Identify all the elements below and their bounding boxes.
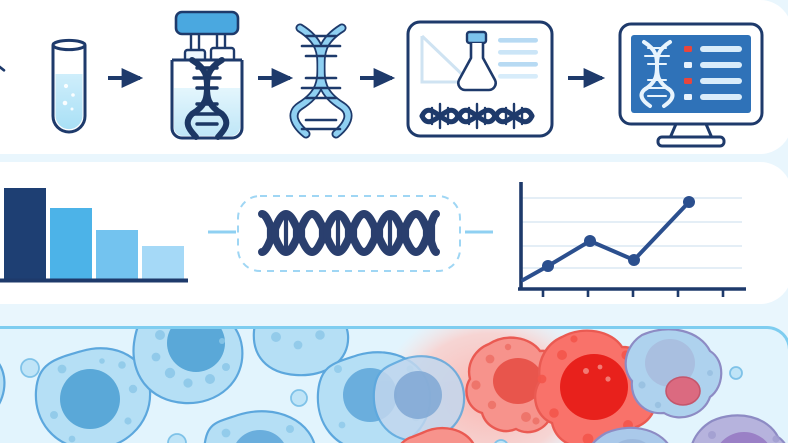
cell-blue-2: [36, 348, 150, 443]
vial-cap: [176, 12, 238, 34]
cell-culture-illustration: [0, 329, 788, 443]
analytics-diagram: [0, 168, 786, 298]
step-1-syringe-and-test-tube-icon: [0, 17, 85, 132]
step-2-bioreactor-vial-dna-icon: [172, 12, 242, 138]
analytics-panel: [0, 168, 786, 298]
step-5-computer-monitor-results-icon: [620, 24, 762, 146]
trend-line-markers: [542, 196, 695, 272]
step-4-lab-report-card-icon: [408, 22, 552, 136]
step-3-dna-helix-icon: [294, 28, 348, 134]
bar-5: [142, 246, 184, 279]
infographic-stage: [0, 0, 788, 443]
horizontal-dna-helix-icon: [262, 214, 436, 252]
expression-bar-chart: [0, 188, 188, 281]
cells-panel: [0, 326, 788, 443]
dna-sequence-box: [238, 196, 460, 271]
bar-4: [96, 230, 138, 279]
syringe-icon: [0, 17, 10, 78]
workflow-panel: [0, 6, 786, 148]
trend-line-chart: [518, 182, 746, 297]
test-tube-icon: [53, 40, 85, 132]
bar-2: [4, 188, 46, 279]
bar-3: [50, 208, 92, 279]
workflow-diagram: [0, 6, 786, 148]
